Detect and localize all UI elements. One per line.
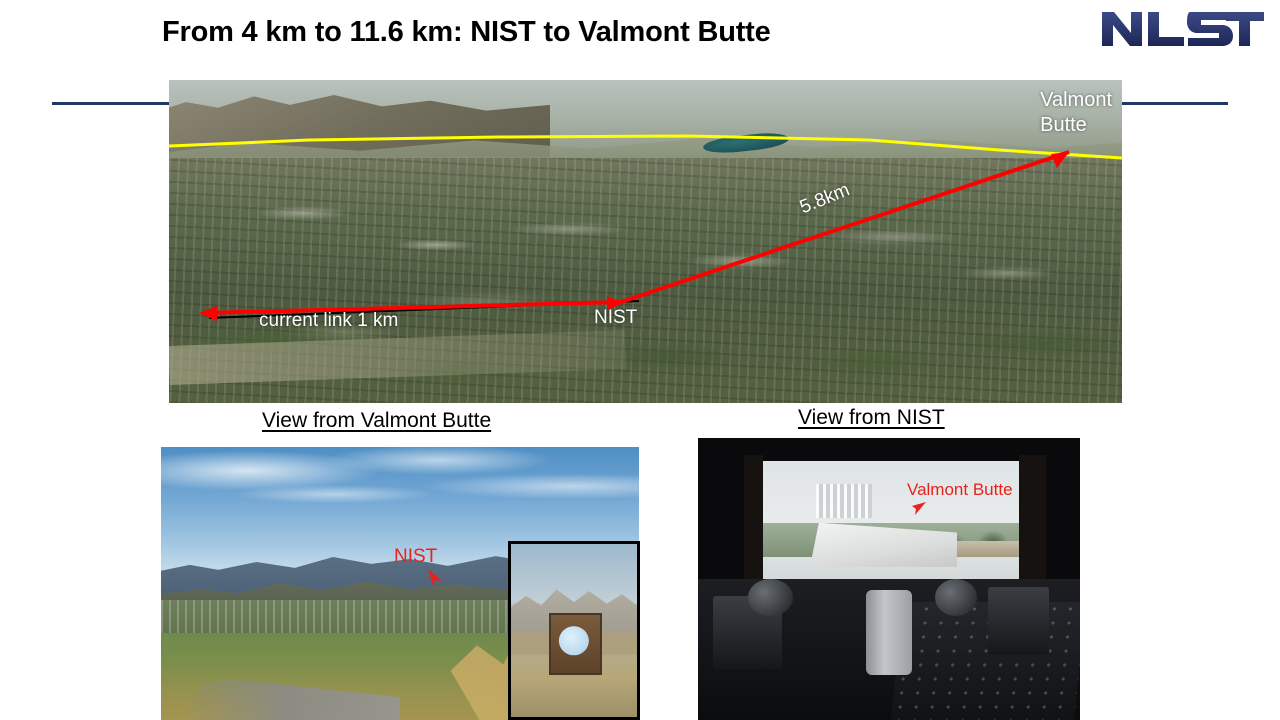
horizon-line [169, 136, 1122, 158]
short-link-arrowhead [199, 306, 217, 321]
annotation-arrow-icon [912, 501, 928, 519]
nist-logo-icon [1098, 6, 1266, 52]
photo-inset-telescope-enclosure [508, 541, 640, 720]
page-title: From 4 km to 11.6 km: NIST to Valmont Bu… [162, 16, 1042, 49]
photo-view-from-nist: Valmont Butte [698, 438, 1080, 720]
aerial-annotation-overlay [169, 80, 1122, 403]
optical-breadboard [890, 602, 1080, 720]
map-label-current-link: current link 1 km [259, 310, 398, 332]
laser-tube [866, 590, 912, 675]
slide-canvas: From 4 km to 11.6 km: NIST to Valmont Bu… [0, 0, 1280, 720]
inset-sky [511, 544, 637, 603]
valmont-link-line [621, 152, 1069, 302]
annotation-arrow-icon [426, 567, 444, 587]
divider-right [1122, 102, 1228, 105]
map-label-nist: NIST [594, 307, 637, 329]
caption-view-from-nist: View from NIST [798, 406, 945, 430]
optic-mount-right [988, 587, 1049, 655]
map-label-valmont-butte: Valmont Butte [1040, 88, 1112, 138]
telescope-lens-left [748, 579, 794, 616]
photo-annotation-nist: NIST [394, 546, 437, 568]
window-rooftop-structure [816, 484, 873, 518]
photo-annotation-valmont-butte: Valmont Butte [907, 480, 1013, 500]
valmont-link-arrowhead [1051, 152, 1069, 168]
aerial-map-photo: Valmont Butte NIST current link 1 km 5.8… [169, 80, 1122, 403]
divider-left [52, 102, 170, 105]
caption-view-from-valmont-butte: View from Valmont Butte [262, 409, 491, 433]
telescope-lens-right [935, 579, 977, 616]
